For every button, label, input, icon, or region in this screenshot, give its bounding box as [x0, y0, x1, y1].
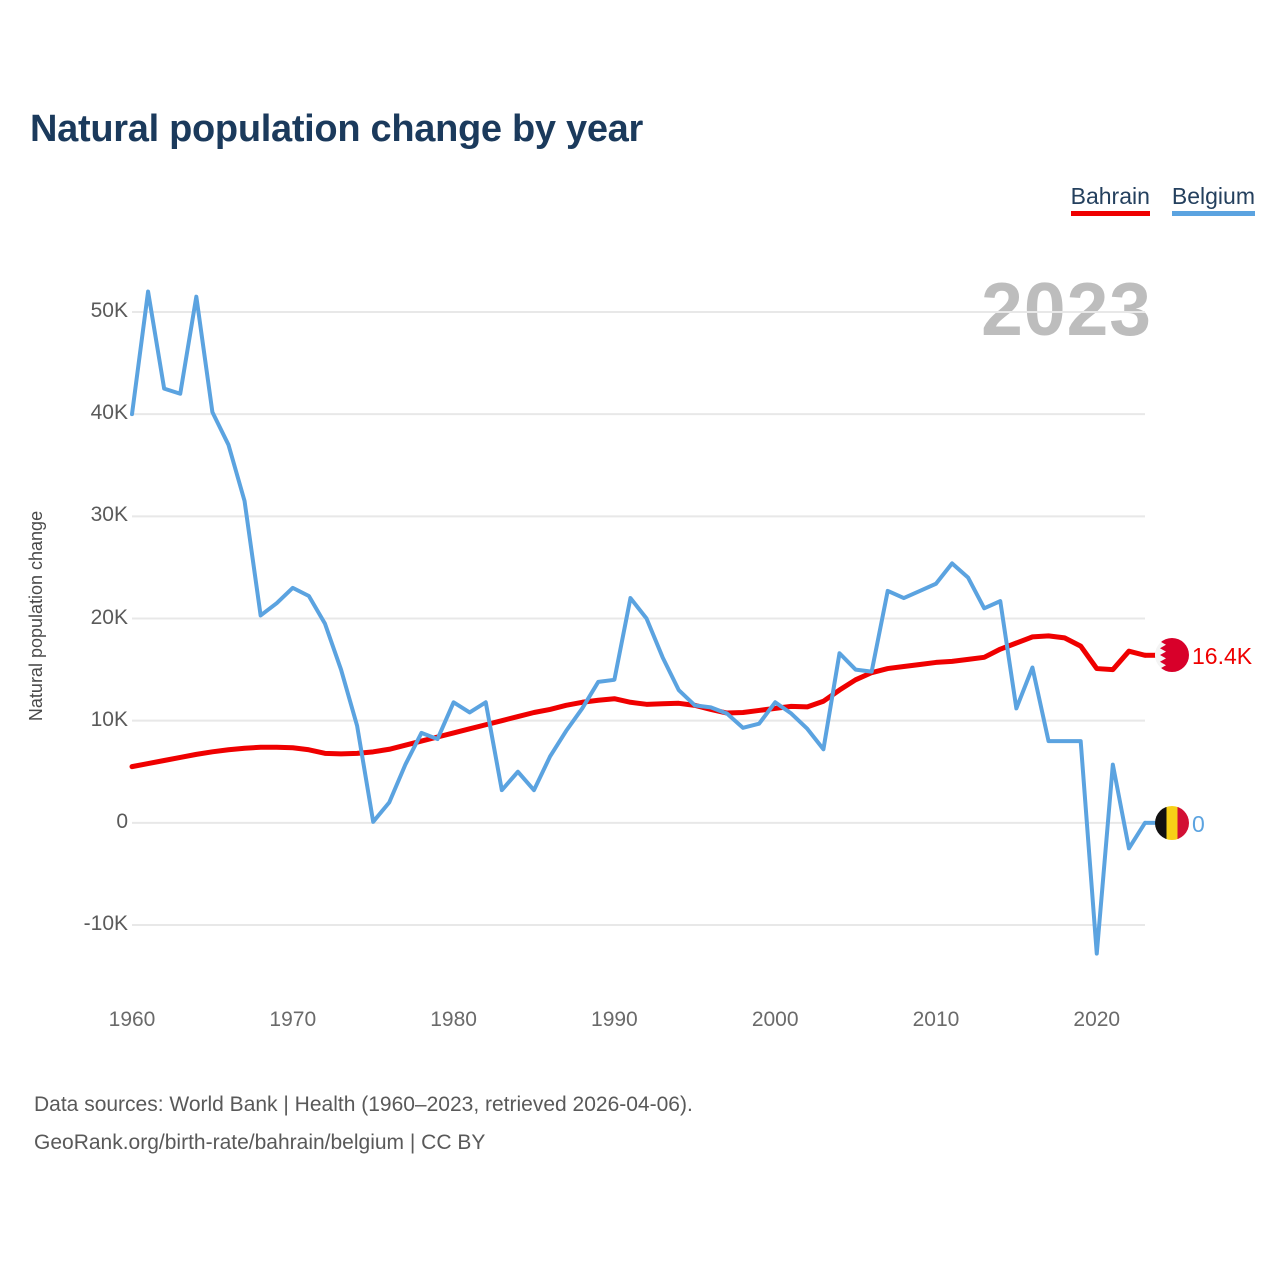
y-axis-tick-30K: 30K: [91, 503, 128, 527]
x-axis-tick-2020: 2020: [1073, 1008, 1120, 1032]
y-axis-title: Natural population change: [26, 466, 47, 766]
series-line-belgium: [132, 292, 1145, 954]
belgium-flag-icon: [1155, 806, 1189, 840]
y-axis-tick--10K: -10K: [84, 912, 128, 936]
belgium-end-value: 0: [1192, 811, 1205, 838]
bahrain-flag-icon: [1155, 638, 1189, 672]
x-axis-tick-2000: 2000: [752, 1008, 799, 1032]
y-axis-tick-0: 0: [116, 810, 128, 834]
bahrain-flag-icon: [1155, 638, 1189, 672]
x-axis-tick-1970: 1970: [269, 1008, 316, 1032]
footer-line-1: Data sources: World Bank | Health (1960–…: [34, 1086, 693, 1124]
footer-line-2: GeoRank.org/birth-rate/bahrain/belgium |…: [34, 1124, 693, 1162]
footer-credits: Data sources: World Bank | Health (1960–…: [34, 1086, 693, 1162]
y-axis-tick-50K: 50K: [91, 299, 128, 323]
y-axis-tick-40K: 40K: [91, 401, 128, 425]
x-axis-tick-1960: 1960: [109, 1008, 156, 1032]
y-axis-tick-20K: 20K: [91, 606, 128, 630]
series-line-bahrain: [132, 636, 1145, 767]
x-axis-tick-1990: 1990: [591, 1008, 638, 1032]
x-axis-tick-2010: 2010: [913, 1008, 960, 1032]
bahrain-end-value: 16.4K: [1192, 643, 1252, 670]
chart-root: Natural population change by year Bahrai…: [0, 0, 1280, 1280]
y-axis-tick-10K: 10K: [91, 708, 128, 732]
x-axis-tick-1980: 1980: [430, 1008, 477, 1032]
